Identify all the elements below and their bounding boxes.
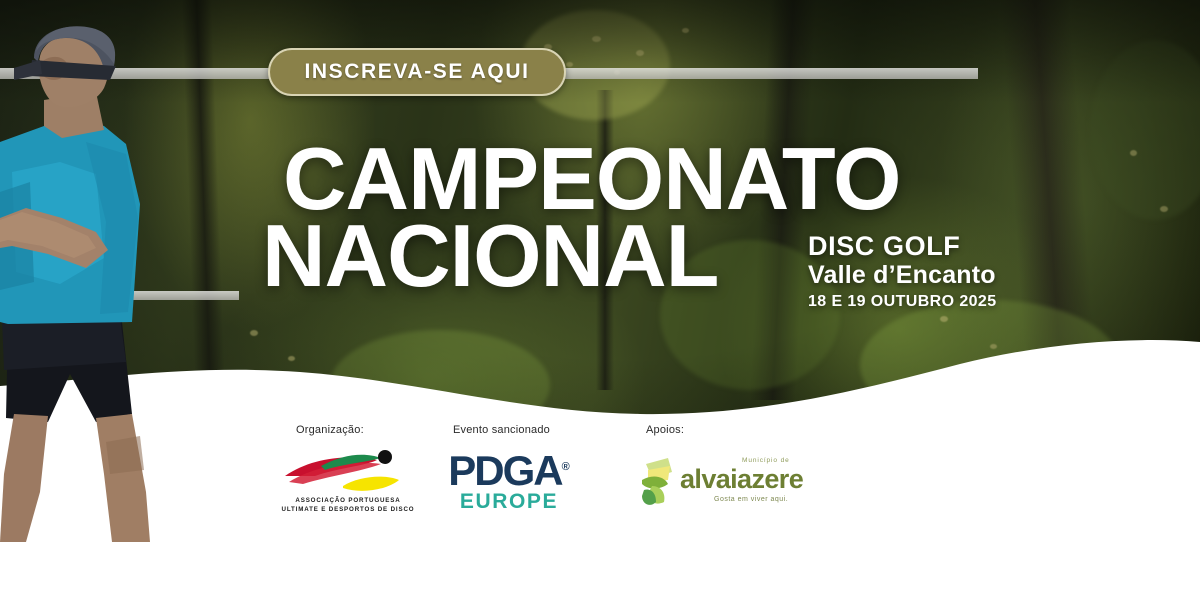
pdga-wordmark: PDGA® (440, 452, 578, 491)
apud-line-1: ASSOCIAÇÃO PORTUGUESA (278, 496, 418, 505)
decorative-bar-right (560, 68, 978, 79)
sponsor-group-label: Organização: (296, 424, 364, 436)
sponsor-group-label: Apoios: (646, 424, 684, 436)
alvaiazere-logo: Município de alvaiazere Gosta em viver a… (638, 456, 806, 514)
pdga-europe-logo: PDGA® EUROPE (440, 452, 578, 514)
event-venue: Valle d’Encanto (808, 261, 997, 291)
alvaiazere-slogan: Gosta em viver aqui. (714, 496, 788, 503)
apud-logo-text: ASSOCIAÇÃO PORTUGUESA ULTIMATE E DESPORT… (278, 496, 418, 515)
pdga-europe-label: EUROPE (440, 491, 578, 513)
event-sport: DISC GOLF (808, 232, 997, 261)
sponsor-group-apoios: Apoios: (646, 424, 684, 436)
alvaiazere-name: alvaiazere (680, 466, 803, 493)
alvaiazere-mark-icon (638, 456, 678, 514)
alvaiazere-municipality: Município de (742, 457, 790, 464)
event-dates: 18 E 19 OUTUBRO 2025 (808, 293, 997, 311)
event-banner: INSCREVA-SE AQUI CAMPEONATO NACIONAL DIS… (0, 0, 1200, 600)
register-button[interactable]: INSCREVA-SE AQUI (268, 48, 566, 96)
apud-line-2: ULTIMATE E DESPORTOS DE DISCO (278, 505, 418, 514)
sponsor-group-sancionado: Evento sancionado (453, 424, 550, 436)
sponsor-strip: Organização: Evento sancionado Apoios: A… (0, 420, 1200, 530)
register-button-label: INSCREVA-SE AQUI (304, 60, 529, 84)
event-details: DISC GOLF Valle d’Encanto 18 E 19 OUTUBR… (808, 232, 997, 311)
sponsor-group-organizacao: Organização: (296, 424, 364, 436)
sponsor-group-label: Evento sancionado (453, 424, 550, 436)
